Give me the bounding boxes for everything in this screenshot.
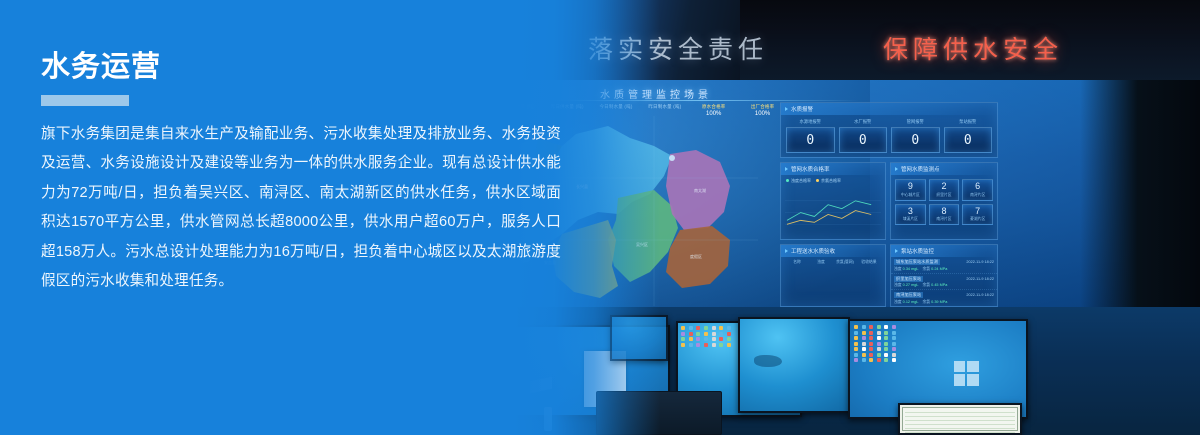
pump-metric: 余氯 0.24 MPa: [923, 267, 948, 272]
windows-logo-icon: [954, 361, 980, 387]
rate-line-chart: [785, 191, 881, 235]
map-label: 南太湖: [694, 187, 706, 193]
chart-legend: 浊度合格率 余氯合格率: [781, 175, 885, 187]
point-label: 中心城片区: [896, 193, 925, 198]
panel-header: 管网水质合格率: [781, 163, 885, 175]
panel-header: 工程送水水质验收: [781, 245, 885, 257]
desktop-icon-grid: [854, 325, 898, 362]
alarm-value: 0: [911, 133, 919, 148]
alarm-value-box: 0: [786, 127, 835, 153]
panel-header: 水质报警: [781, 103, 997, 115]
triangle-icon: [895, 249, 898, 253]
wall-slogan-right: 保障供水安全: [883, 30, 1063, 66]
series-turbidity: [787, 201, 871, 221]
column-header: 余氯(管网): [833, 260, 857, 265]
column-header: 验收结果: [857, 260, 881, 265]
point-value: 9: [896, 182, 925, 191]
alarm-value: 0: [859, 133, 867, 148]
pump-row: 织里加压泵站 2022-11-9 18:22 浊度 0.27 mgL 余氯 0.…: [891, 274, 997, 291]
triangle-icon: [785, 249, 788, 253]
alarm-value: 0: [806, 133, 814, 148]
triangle-icon: [785, 107, 788, 111]
pump-name: 织里加压泵站: [894, 276, 923, 282]
panel-title: 工程送水水质验收: [791, 247, 835, 255]
triangle-icon: [895, 167, 898, 171]
alarm-value-box: 0: [891, 127, 940, 153]
alarm-label: 泵站报警: [944, 119, 993, 125]
panel-title: 泵站水质监控: [901, 247, 934, 255]
monitoring-point: 7 菱湖片区: [962, 204, 993, 226]
point-value: 7: [963, 207, 992, 216]
pump-name: 城东加压泵站水质监测: [894, 259, 940, 265]
point-value: 6: [963, 182, 992, 191]
monitoring-point: 3 埭溪片区: [895, 204, 926, 226]
alarm-label: 水源地报警: [786, 119, 835, 125]
accent-bar: [41, 95, 129, 106]
pump-metric: 余氯 0.45 MPa: [923, 283, 948, 288]
panel-title: 水质报警: [791, 105, 813, 113]
point-value: 2: [930, 182, 959, 191]
desk-monitor-spreadsheet: [898, 403, 1022, 435]
monitoring-point: 2 织里片区: [929, 179, 960, 201]
alarm-card: 水源地报警 0: [786, 119, 835, 153]
legend-item: 浊度合格率: [786, 178, 811, 184]
dashboard-panels: 水质报警 水源地报警 0 水厂报警 0: [780, 102, 998, 307]
pump-metric: 浊度 0.27 mgL: [894, 283, 919, 288]
desktop-icon-grid: [681, 326, 733, 347]
kpi-label: 出厂合格率: [739, 104, 786, 110]
point-value: 8: [930, 207, 959, 216]
kpi-label: 原水合格率: [690, 104, 737, 110]
text-block: 水务运营 旗下水务集团是集自来水生产及输配业务、污水收集处理及排放业务、水务投资…: [41, 52, 561, 297]
pump-metric: 浊度 0.12 mgL: [894, 300, 919, 305]
point-label: 菱湖片区: [963, 217, 992, 222]
banner-stage: 落实安全责任 保障供水安全 水质管理监控场景 累计供水量 (万吨) 今日供水量 …: [0, 0, 1200, 435]
panel-header: 泵站水质监控: [891, 245, 997, 257]
alarm-card: 水厂报警 0: [839, 119, 888, 153]
pump-timestamp: 2022-11-9 18:22: [966, 293, 994, 297]
map-marker: [669, 155, 675, 161]
pump-metric: 余氯 0.39 MPa: [923, 300, 948, 305]
legend-item: 余氯合格率: [816, 178, 841, 184]
pump-row: 城东加压泵站水质监测 2022-11-9 18:22 浊度 0.34 mgL 余…: [891, 257, 997, 274]
panel-water-quality-alarm: 水质报警 水源地报警 0 水厂报警 0: [780, 102, 998, 158]
body-paragraph: 旗下水务集团是集自来水生产及输配业务、污水收集处理及排放业务、水务投资及运营、水…: [41, 120, 561, 297]
pump-metric: 浊度 0.34 mgL: [894, 267, 919, 272]
monitoring-point: 8 南浔片区: [929, 204, 960, 226]
page-title: 水务运营: [41, 52, 561, 84]
panel-project-water-acceptance: 工程送水水质验收 名称 浊度 余氯(管网) 验收结果: [780, 244, 886, 307]
spreadsheet: [902, 407, 1018, 431]
column-header: 名称: [785, 260, 809, 265]
alarm-label: 水厂报警: [839, 119, 888, 125]
legend-swatch: [786, 179, 789, 182]
point-label: 南浔片区: [963, 193, 992, 198]
point-label: 南浔片区: [930, 217, 959, 222]
pump-name: 南浔加压泵站: [894, 292, 923, 298]
pump-row: 南浔加压泵站 2022-11-9 18:22 浊度 0.12 mgL 余氯 0.…: [891, 290, 997, 307]
panel-header: 管网水质监测点: [891, 163, 997, 175]
panel-pipeline-quality-rate: 管网水质合格率 浊度合格率 余氯合格率: [780, 162, 886, 240]
point-label: 织里片区: [930, 193, 959, 198]
alarm-value: 0: [964, 133, 972, 148]
point-label: 埭溪片区: [896, 217, 925, 222]
pump-timestamp: 2022-11-9 18:22: [966, 277, 994, 281]
table-header-row: 名称 浊度 余氯(管网) 验收结果: [781, 257, 885, 265]
panel-pump-station-monitor: 泵站水质监控 城东加压泵站水质监测 2022-11-9 18:22 浊度 0.3…: [890, 244, 998, 307]
panel-title: 管网水质合格率: [791, 165, 830, 173]
desk-monitor-wallpaper: [738, 317, 850, 413]
monitoring-point: 9 中心城片区: [895, 179, 926, 201]
alarm-value-box: 0: [839, 127, 888, 153]
alarm-label: 管网报警: [891, 119, 940, 125]
diver-silhouette: [754, 355, 782, 367]
triangle-icon: [785, 167, 788, 171]
alarm-card: 泵站报警 0: [944, 119, 993, 153]
pump-timestamp: 2022-11-9 18:22: [966, 260, 994, 264]
alarm-card-list: 水源地报警 0 水厂报警 0 管网报警: [781, 115, 997, 157]
legend-label: 余氯合格率: [821, 178, 841, 183]
alarm-card: 管网报警 0: [891, 119, 940, 153]
panel-monitoring-points: 管网水质监测点 9 中心城片区 2 织里片区 6 南浔片区: [890, 162, 998, 240]
monitoring-point: 6 南浔片区: [962, 179, 993, 201]
alarm-value-box: 0: [944, 127, 993, 153]
legend-label: 浊度合格率: [791, 178, 811, 183]
panel-title: 管网水质监测点: [901, 165, 940, 173]
map-label: 度假区: [690, 253, 702, 259]
column-header: 浊度: [809, 260, 833, 265]
monitoring-point-grid: 9 中心城片区 2 织里片区 6 南浔片区 3: [891, 175, 997, 229]
point-value: 3: [896, 207, 925, 216]
legend-swatch: [816, 179, 819, 182]
